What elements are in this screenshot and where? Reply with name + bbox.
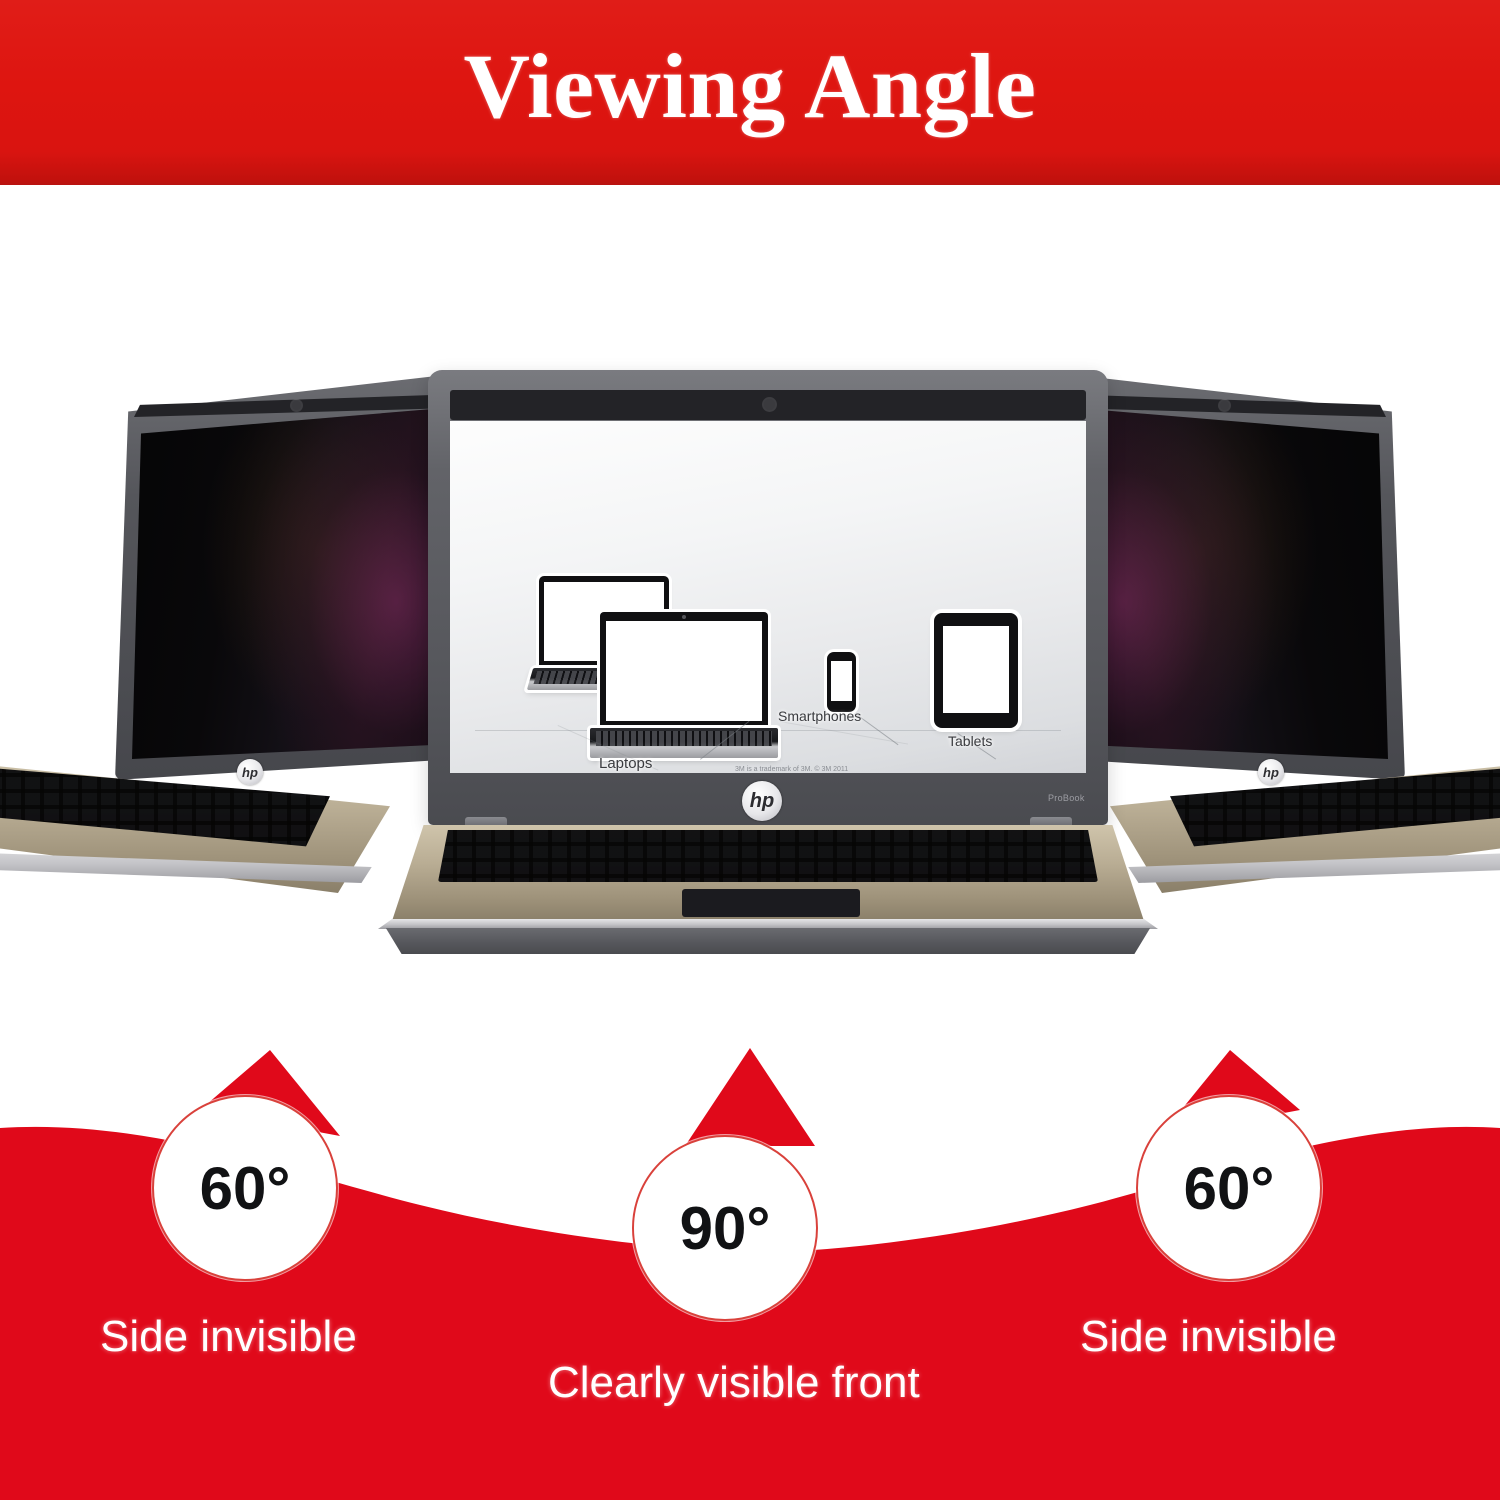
angle-badge-right: 60° [1136, 1095, 1322, 1281]
angle-badge-left-value: 60° [200, 1154, 291, 1223]
center-laptop-base [374, 928, 1162, 954]
angle-badge-center-value: 90° [680, 1194, 771, 1263]
wallpaper-floor-grid-right [780, 721, 908, 745]
viewing-angle-legend: 60° Side invisible 90° Clearly visible f… [0, 1040, 1500, 1500]
left-laptop-webcam-icon [292, 401, 301, 410]
wallpaper-smartphone-device [827, 652, 856, 712]
wallpaper-label-smartphones: Smartphones [778, 708, 861, 724]
angle-badge-right-value: 60° [1184, 1154, 1275, 1223]
center-laptop-model-mark: ProBook [1048, 793, 1085, 803]
page-title: Viewing Angle [0, 36, 1500, 136]
angle-badge-center: 90° [632, 1135, 818, 1321]
center-laptop-trackpad [682, 889, 860, 917]
left-laptop: hp [0, 365, 420, 905]
right-laptop-webcam-icon [1220, 401, 1229, 410]
center-laptop-keyboard [438, 830, 1098, 882]
angle-badge-left: 60° [152, 1095, 338, 1281]
angle-caption-left: Side invisible [100, 1312, 357, 1362]
wallpaper-tablet-device [934, 613, 1018, 728]
laptop-showcase-photo: hp hp [0, 185, 1500, 1040]
right-laptop-hp-logo: hp [1258, 759, 1284, 785]
product-infographic: Viewing Angle hp hp [0, 0, 1500, 1500]
wallpaper-label-laptops: Laptops [599, 755, 652, 772]
center-laptop-hp-logo: hp [742, 781, 782, 821]
center-laptop-screen: Laptops Smartphones Tablets 3M is a trad… [450, 421, 1086, 773]
screen-wallpaper: Laptops Smartphones Tablets 3M is a trad… [450, 421, 1086, 773]
center-laptop-webcam-icon [764, 399, 775, 410]
angle-caption-center: Clearly visible front [548, 1358, 920, 1408]
left-laptop-hp-logo: hp [237, 759, 263, 785]
wallpaper-trademark-fineprint: 3M is a trademark of 3M. © 3M 2011 [735, 766, 848, 773]
wallpaper-laptop-keys [596, 731, 772, 746]
center-laptop: Laptops Smartphones Tablets 3M is a trad… [370, 370, 1150, 955]
angle-caption-right: Side invisible [1080, 1312, 1337, 1362]
center-laptop-front-edge [378, 919, 1158, 929]
wallpaper-laptop-device [600, 612, 768, 728]
wallpaper-label-tablets: Tablets [948, 733, 992, 749]
